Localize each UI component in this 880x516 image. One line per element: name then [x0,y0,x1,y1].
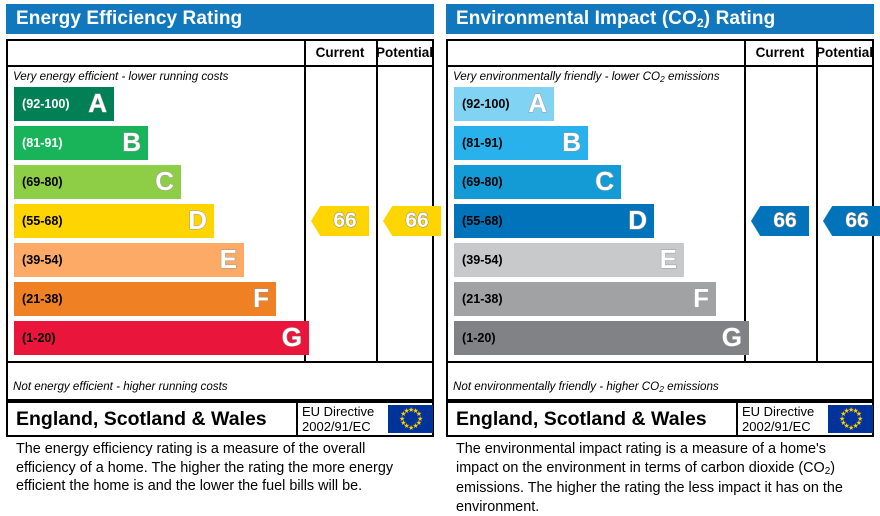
eu-flag-icon: ★★★★★★★★★★★★ [388,405,433,433]
band-letter-D: D [628,204,647,238]
energy-caption-top: Very energy efficient - lower running co… [13,69,228,85]
environmental-caption-top-prefix: Very environmentally friendly - lower CO [453,70,660,83]
band-letter-B: B [122,126,141,160]
band-bar-C: (69-80)C [454,165,621,199]
environmental-description: The environmental impact rating is a mea… [456,440,866,516]
band-range-B: (81-91) [462,126,503,160]
eu-star-icon: ★ [404,409,409,414]
band-range-A: (92-100) [22,87,70,121]
energy-header-current: Current [304,41,376,65]
band-range-G: (1-20) [462,321,496,355]
band-range-C: (69-80) [462,165,503,199]
band-bar-B: (81-91)B [454,126,588,160]
environmental-column-divider-2 [816,41,818,361]
environmental-header-potential: Potential [816,41,872,65]
band-bar-A: (92-100)A [14,87,114,121]
energy-footer-region: England, Scotland & Wales [16,403,267,435]
energy-bars: (92-100)A(81-91)B(69-80)C(55-68)D(39-54)… [8,87,304,361]
environmental-header-current: Current [744,41,816,65]
band-range-G: (1-20) [22,321,56,355]
environmental-footer: England, Scotland & Wales EU Directive 2… [446,401,874,437]
band-letter-B: B [562,126,581,160]
band-range-B: (81-91) [22,126,63,160]
band-bar-E: (39-54)E [14,243,244,277]
environmental-eu-directive-line2: 2002/91/EC [742,419,824,434]
band-bar-D: (55-68)D [14,204,214,238]
environmental-impact-panel: Environmental Impact (CO2) Rating Curren… [440,0,880,493]
band-range-D: (55-68) [462,204,503,238]
environmental-footer-region: England, Scotland & Wales [456,403,707,435]
band-bar-D: (55-68)D [454,204,654,238]
band-bar-C: (69-80)C [14,165,181,199]
environmental-panel-title-sub: 2 [697,16,704,30]
band-range-A: (92-100) [462,87,510,121]
environmental-column-divider-1 [744,41,746,361]
environmental-table-header-row: Current Potential [448,41,872,67]
energy-description: The energy efficiency rating is a measur… [16,440,426,496]
environmental-caption-bottom: Not environmentally friendly - higher CO… [453,379,719,395]
band-range-F: (21-38) [462,282,503,316]
energy-panel-title: Energy Efficiency Rating [6,4,434,34]
band-bar-B: (81-91)B [14,126,148,160]
energy-eu-directive-line1: EU Directive [302,404,384,419]
environmental-caption-top: Very environmentally friendly - lower CO… [453,69,720,85]
energy-eu-directive-line2: 2002/91/EC [302,419,384,434]
environmental-bottom-divider [448,361,872,363]
energy-bottom-divider [8,361,432,363]
band-bar-F: (21-38)F [454,282,716,316]
band-letter-A: A [528,87,547,121]
band-range-E: (39-54) [22,243,63,277]
band-letter-A: A [88,87,107,121]
environmental-caption-top-sub: 2 [660,74,665,84]
band-letter-C: C [595,165,614,199]
energy-table-header-row: Current Potential [8,41,432,67]
band-range-D: (55-68) [22,204,63,238]
band-letter-F: F [253,282,269,316]
energy-current-rating-arrow: 66 [311,206,369,236]
energy-column-divider-1 [304,41,306,361]
environmental-footer-divider [736,403,738,435]
environmental-eu-directive-line1: EU Directive [742,404,824,419]
band-bar-F: (21-38)F [14,282,276,316]
energy-footer: England, Scotland & Wales EU Directive 2… [6,401,434,437]
energy-eu-directive: EU Directive 2002/91/EC [302,404,384,434]
band-letter-G: G [722,321,742,355]
environmental-bars: (92-100)A(81-91)B(69-80)C(55-68)D(39-54)… [448,87,744,361]
band-letter-D: D [188,204,207,238]
band-letter-E: E [220,243,237,277]
band-bar-G: (1-20)G [14,321,309,355]
band-bar-E: (39-54)E [454,243,684,277]
environmental-current-rating-arrow: 66 [751,206,809,236]
band-range-C: (69-80) [22,165,63,199]
environmental-panel-title-suffix: ) Rating [704,8,776,29]
energy-column-divider-2 [376,41,378,361]
band-letter-E: E [660,243,677,277]
eu-flag-icon: ★★★★★★★★★★★★ [828,405,873,433]
environmental-caption-bottom-suffix: emissions [664,380,719,393]
band-bar-A: (92-100)A [454,87,554,121]
environmental-caption-bottom-prefix: Not environmentally friendly - higher CO [453,380,659,393]
band-letter-F: F [693,282,709,316]
co2-subscript: 2 [825,466,831,477]
band-range-E: (39-54) [462,243,503,277]
energy-footer-divider [296,403,298,435]
environmental-eu-directive: EU Directive 2002/91/EC [742,404,824,434]
epc-ratings-page: Energy Efficiency Rating Current Potenti… [0,0,880,493]
environmental-caption-top-suffix: emissions [665,70,720,83]
environmental-panel-title-prefix: Environmental Impact (CO [456,8,697,29]
environmental-chart-table: Current Potential Very environmentally f… [446,39,874,401]
band-letter-G: G [282,321,302,355]
eu-star-icon: ★ [844,409,849,414]
band-bar-G: (1-20)G [454,321,749,355]
environmental-potential-rating-arrow: 66 [823,206,880,236]
band-letter-C: C [155,165,174,199]
energy-potential-rating-arrow: 66 [383,206,441,236]
energy-header-potential: Potential [376,41,432,65]
environmental-panel-title: Environmental Impact (CO2) Rating [446,4,874,34]
energy-efficiency-panel: Energy Efficiency Rating Current Potenti… [0,0,440,493]
energy-panel-title-text: Energy Efficiency Rating [16,8,242,29]
band-range-F: (21-38) [22,282,63,316]
energy-chart-table: Current Potential Very energy efficient … [6,39,434,401]
environmental-caption-bottom-sub: 2 [659,384,664,394]
energy-caption-bottom: Not energy efficient - higher running co… [13,379,228,395]
